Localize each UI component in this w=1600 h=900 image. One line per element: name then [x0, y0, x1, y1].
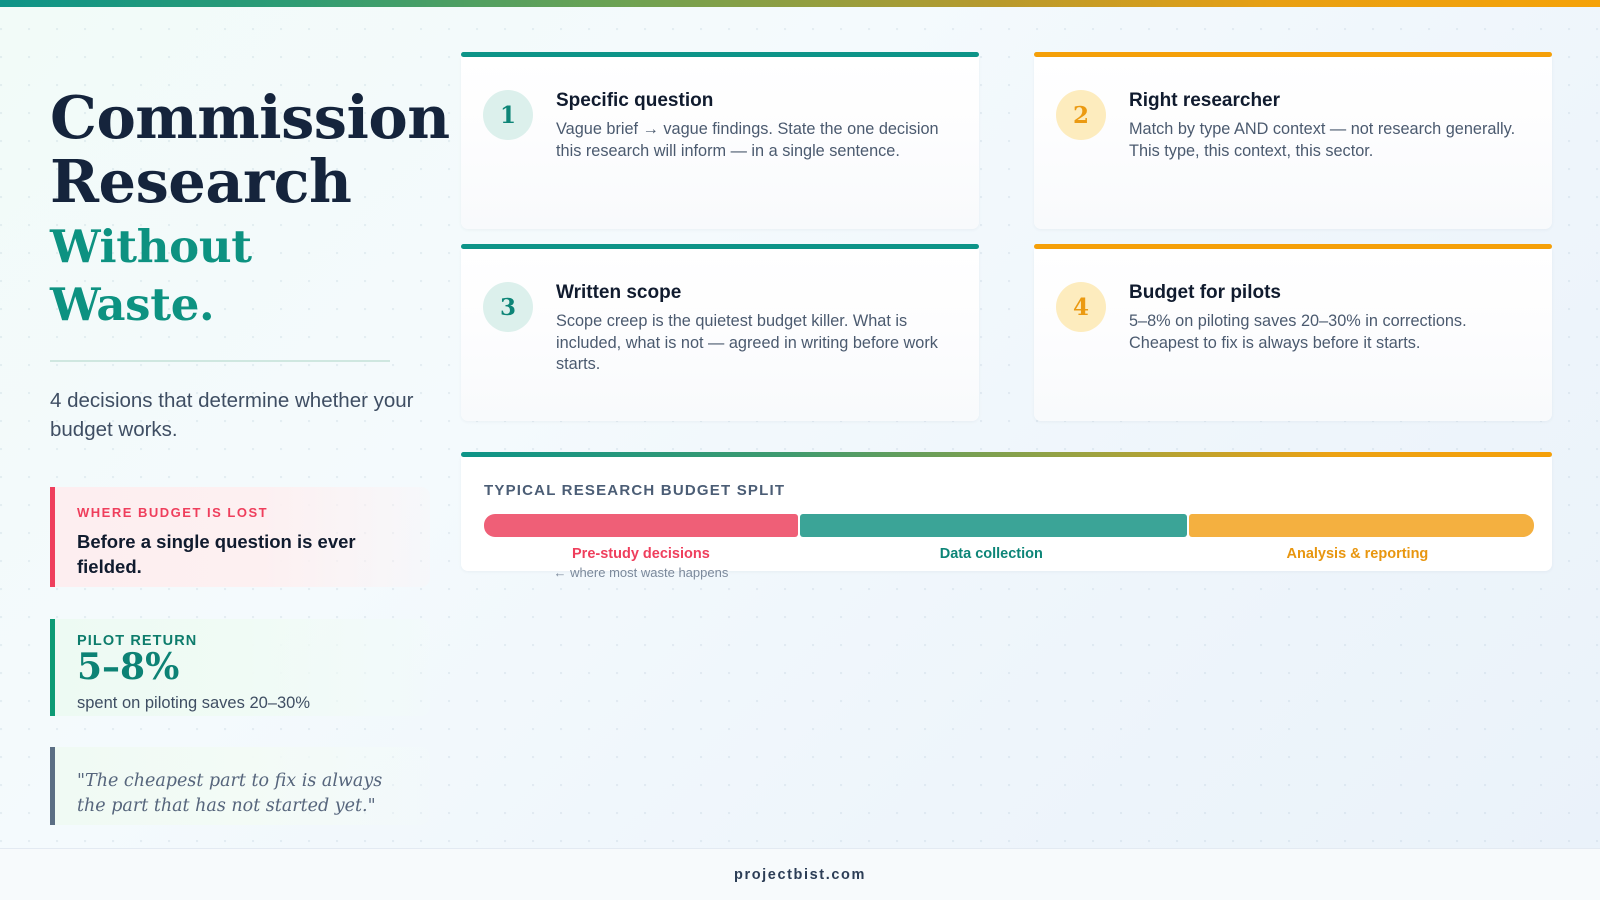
budget-segment-analysis-reporting	[1189, 514, 1534, 537]
decision-card-grid: 1 Specific question Vague brief → vague …	[461, 52, 1552, 421]
page-title-accent: Without Waste.	[50, 218, 430, 334]
card-description: 5–8% on piloting saves 20–30% in correct…	[1129, 311, 1526, 354]
card-title: Budget for pilots	[1129, 281, 1526, 305]
footer: projectbist.com	[0, 848, 1600, 900]
budget-segment-label: Data collection	[798, 546, 1185, 562]
top-gradient-bar	[0, 0, 1600, 7]
pilot-return-note: spent on piloting saves 20–30%	[77, 694, 410, 713]
budget-split-bar	[484, 514, 1530, 537]
card-title: Right researcher	[1129, 89, 1526, 113]
card-description: Vague brief → vague findings. State the …	[556, 119, 953, 162]
page-title-line1: Commission	[50, 86, 430, 150]
callout-pilot-return: PILOT RETURN 5–8% spent on piloting save…	[50, 619, 430, 716]
budget-segment-pre-study	[484, 514, 798, 537]
decision-card-4: 4 Budget for pilots 5–8% on piloting sav…	[1034, 244, 1552, 421]
budget-segment-label: Pre-study decisions	[484, 546, 798, 562]
budget-bar-labels: Pre-study decisions ← where most waste h…	[484, 546, 1530, 580]
budget-label-group-0: Pre-study decisions ← where most waste h…	[484, 546, 798, 580]
title-divider	[50, 360, 390, 362]
card-title: Specific question	[556, 89, 953, 113]
budget-segment-data-collection	[800, 514, 1187, 537]
footer-site-name: projectbist.com	[734, 867, 866, 883]
quote-text: "The cheapest part to fix is always the …	[77, 769, 410, 819]
infographic-page: Commission Research Without Waste. 4 dec…	[0, 0, 1600, 900]
budget-split-title: TYPICAL RESEARCH BUDGET SPLIT	[484, 482, 1530, 499]
card-description: Scope creep is the quietest budget kille…	[556, 311, 953, 376]
callout-quote: "The cheapest part to fix is always the …	[50, 747, 430, 825]
decision-card-2: 2 Right researcher Match by type AND con…	[1034, 52, 1552, 229]
card-number-badge: 4	[1056, 282, 1106, 332]
decision-card-3: 3 Written scope Scope creep is the quiet…	[461, 244, 979, 421]
budget-segment-note: ← where most waste happens	[484, 565, 798, 580]
callout-where-budget-is-lost: WHERE BUDGET IS LOST Before a single que…	[50, 487, 430, 587]
budget-label-group-2: Analysis & reporting	[1185, 546, 1530, 580]
budget-split-panel: TYPICAL RESEARCH BUDGET SPLIT Pre-study …	[461, 452, 1552, 571]
callout-statement-lost: Before a single question is ever fielded…	[77, 529, 410, 579]
budget-segment-label: Analysis & reporting	[1185, 546, 1530, 562]
card-number-badge: 3	[483, 282, 533, 332]
card-title: Written scope	[556, 281, 953, 305]
card-number-badge: 1	[483, 90, 533, 140]
page-subtitle: 4 decisions that determine whether your …	[50, 386, 430, 444]
decision-card-1: 1 Specific question Vague brief → vague …	[461, 52, 979, 229]
card-number-badge: 2	[1056, 90, 1106, 140]
callout-eyebrow-lost: WHERE BUDGET IS LOST	[77, 505, 410, 520]
card-description: Match by type AND context — not research…	[1129, 119, 1526, 162]
left-column: Commission Research Without Waste. 4 dec…	[50, 86, 430, 825]
page-title-line2: Research	[50, 150, 430, 214]
budget-label-group-1: Data collection	[798, 546, 1185, 580]
pilot-return-value: 5–8%	[77, 648, 410, 686]
